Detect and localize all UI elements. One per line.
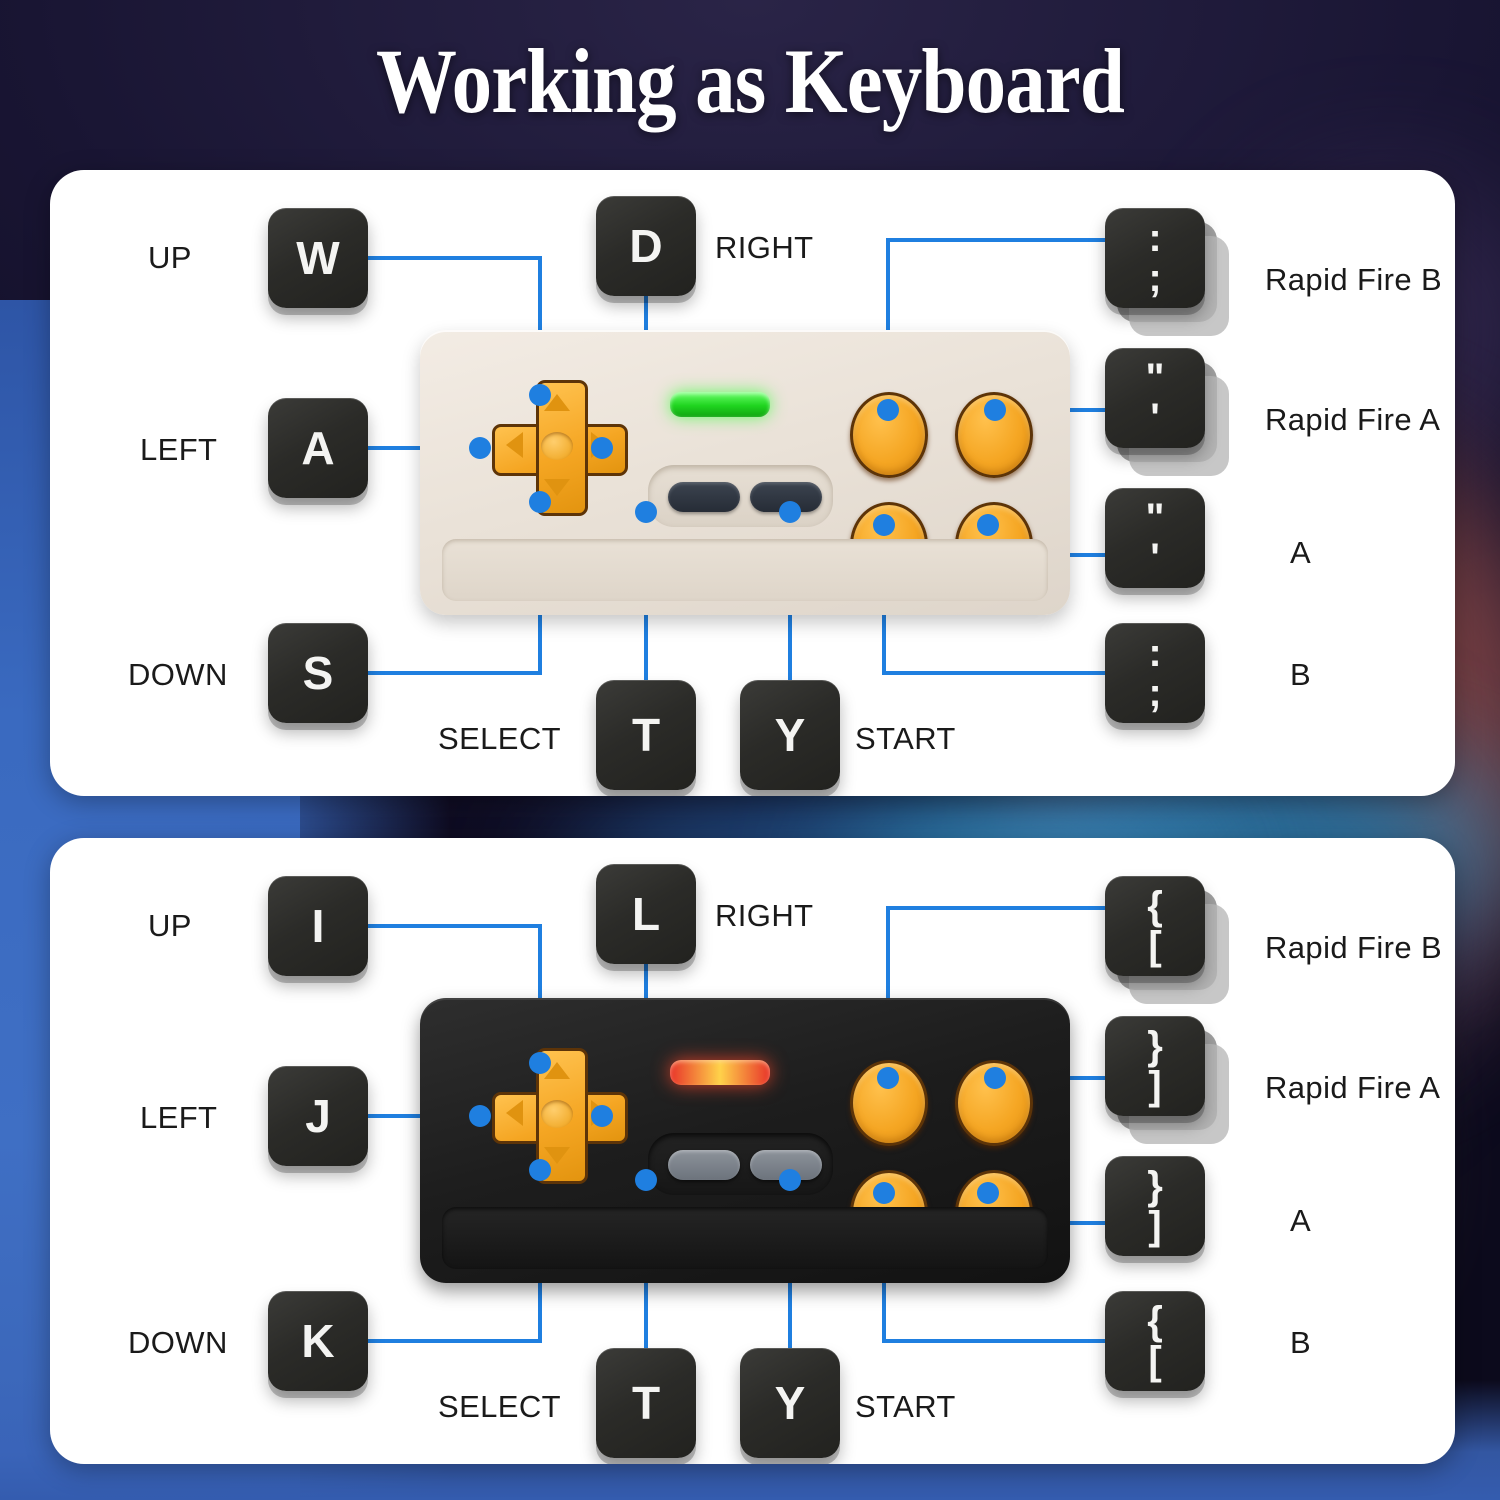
key-glyph-bottom: [: [1148, 1342, 1161, 1380]
key-a[interactable]: " ': [1105, 488, 1205, 588]
key-start[interactable]: Y: [740, 680, 840, 790]
connector-dot: [877, 1067, 899, 1089]
dpad-left-arrow-icon: [506, 432, 523, 458]
key-glyph-bottom: ': [1150, 539, 1160, 577]
key-glyph: W: [296, 235, 339, 281]
key-glyph: T: [632, 712, 660, 758]
game-controller-cream: [420, 330, 1070, 615]
key-glyph-bottom: ]: [1148, 1067, 1161, 1105]
key-glyph-bottom: ;: [1148, 259, 1161, 297]
connector-dot: [529, 384, 551, 406]
label-select: SELECT: [438, 1389, 561, 1425]
key-right[interactable]: L: [596, 864, 696, 964]
connector-dot: [779, 501, 801, 523]
label-rapid-fire-a: Rapid Fire A: [1265, 1070, 1440, 1106]
key-glyph-top: ": [1146, 359, 1165, 397]
label-rapid-fire-a: Rapid Fire A: [1265, 402, 1440, 438]
label-down: DOWN: [128, 1325, 228, 1361]
connector-dot: [529, 491, 551, 513]
label-right: RIGHT: [715, 898, 813, 934]
key-glyph-bottom: ;: [1148, 674, 1161, 712]
mapping-panel-black: UP I LEFT J DOWN K L RIGHT SELECT T Y ST…: [50, 838, 1455, 1464]
select-button[interactable]: [668, 482, 740, 512]
controller-front-lip: [442, 539, 1048, 601]
key-glyph-top: }: [1147, 1027, 1163, 1065]
label-down: DOWN: [128, 657, 228, 693]
controller-front-lip: [442, 1207, 1048, 1269]
connector-dot: [873, 514, 895, 536]
key-up[interactable]: I: [268, 876, 368, 976]
key-down[interactable]: S: [268, 623, 368, 723]
connector-dot: [591, 1105, 613, 1127]
game-controller-black: [420, 998, 1070, 1283]
key-a[interactable]: } ]: [1105, 1156, 1205, 1256]
connector-dot: [977, 514, 999, 536]
key-glyph: Y: [775, 712, 806, 758]
key-glyph: K: [301, 1318, 334, 1364]
dpad-center: [541, 1100, 573, 1128]
key-glyph: D: [629, 223, 662, 269]
connector-dot: [469, 1105, 491, 1127]
key-glyph-top: :: [1148, 219, 1161, 257]
key-b[interactable]: { [: [1105, 1291, 1205, 1391]
key-glyph-top: {: [1147, 1302, 1163, 1340]
connector-dot: [529, 1159, 551, 1181]
key-right[interactable]: D: [596, 196, 696, 296]
key-b[interactable]: : ;: [1105, 623, 1205, 723]
label-select: SELECT: [438, 721, 561, 757]
key-glyph-top: ": [1146, 499, 1165, 537]
connector-dot: [529, 1052, 551, 1074]
label-up: UP: [148, 908, 192, 944]
key-select[interactable]: T: [596, 1348, 696, 1458]
key-start[interactable]: Y: [740, 1348, 840, 1458]
key-glyph-bottom: [: [1148, 927, 1161, 965]
dpad-center: [541, 432, 573, 460]
label-rapid-fire-b: Rapid Fire B: [1265, 262, 1442, 298]
key-rapid-fire-a[interactable]: " ': [1105, 348, 1205, 448]
mapping-panel-cream: UP W LEFT A DOWN S D RIGHT SELECT T Y ST…: [50, 170, 1455, 796]
label-rapid-fire-b: Rapid Fire B: [1265, 930, 1442, 966]
key-glyph: T: [632, 1380, 660, 1426]
key-down[interactable]: K: [268, 1291, 368, 1391]
connector-dot: [984, 1067, 1006, 1089]
connector-dot: [779, 1169, 801, 1191]
label-left: LEFT: [140, 432, 217, 468]
connector-dot: [977, 1182, 999, 1204]
label-left: LEFT: [140, 1100, 217, 1136]
key-select[interactable]: T: [596, 680, 696, 790]
connector-dot: [591, 437, 613, 459]
dpad-left-arrow-icon: [506, 1100, 523, 1126]
label-a: A: [1290, 535, 1311, 571]
label-up: UP: [148, 240, 192, 276]
power-led-red: [670, 1060, 770, 1085]
connector-dot: [877, 399, 899, 421]
key-glyph-top: }: [1147, 1167, 1163, 1205]
connector-dot: [635, 1169, 657, 1191]
connector-dot: [984, 399, 1006, 421]
label-a: A: [1290, 1203, 1311, 1239]
key-glyph-top: :: [1148, 634, 1161, 672]
label-start: START: [855, 1389, 956, 1425]
key-glyph-bottom: ': [1150, 399, 1160, 437]
connector-dot: [873, 1182, 895, 1204]
key-glyph: I: [312, 903, 325, 949]
key-rapid-fire-b[interactable]: : ;: [1105, 208, 1205, 308]
key-up[interactable]: W: [268, 208, 368, 308]
key-glyph: L: [632, 891, 660, 937]
page-title: Working as Keyboard: [90, 28, 1410, 134]
label-start: START: [855, 721, 956, 757]
key-glyph: S: [303, 650, 334, 696]
key-glyph-top: {: [1147, 887, 1163, 925]
key-glyph: J: [305, 1093, 331, 1139]
label-right: RIGHT: [715, 230, 813, 266]
key-rapid-fire-b[interactable]: { [: [1105, 876, 1205, 976]
key-left[interactable]: A: [268, 398, 368, 498]
power-led-green: [670, 392, 770, 417]
connector-dot: [635, 501, 657, 523]
key-glyph-bottom: ]: [1148, 1207, 1161, 1245]
select-button[interactable]: [668, 1150, 740, 1180]
label-b: B: [1290, 657, 1311, 693]
label-b: B: [1290, 1325, 1311, 1361]
key-glyph: Y: [775, 1380, 806, 1426]
connector-dot: [469, 437, 491, 459]
key-left[interactable]: J: [268, 1066, 368, 1166]
key-glyph: A: [301, 425, 334, 471]
key-rapid-fire-a[interactable]: } ]: [1105, 1016, 1205, 1116]
